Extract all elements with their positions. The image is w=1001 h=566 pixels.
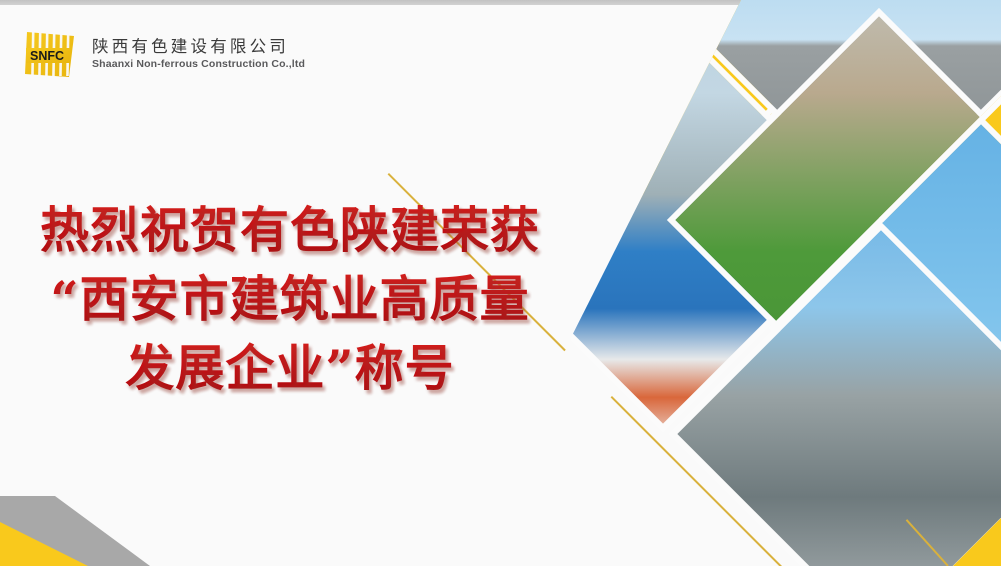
company-logo-lockup: SNFC 陕西有色建设有限公司 Shaanxi Non-ferrous Cons… xyxy=(22,27,305,82)
logo-monogram-text: SNFC xyxy=(30,49,64,63)
corner-decoration-bottom-left xyxy=(0,496,150,566)
company-name-en: Shaanxi Non-ferrous Construction Co.,ltd xyxy=(92,59,305,71)
headline: 热烈祝贺有色陕建荣获 “西安市建筑业高质量 发展企业”称号 xyxy=(0,196,580,403)
headline-line-3: 发展企业”称号 xyxy=(0,334,580,403)
company-name-cn: 陕西有色建设有限公司 xyxy=(92,38,305,56)
poster-canvas: SNFC 陕西有色建设有限公司 Shaanxi Non-ferrous Cons… xyxy=(0,0,1001,566)
headline-line-2: “西安市建筑业高质量 xyxy=(0,265,580,334)
snfc-flag-logo-icon: SNFC xyxy=(22,27,80,82)
headline-line-1: 热烈祝贺有色陕建荣获 xyxy=(0,196,580,265)
